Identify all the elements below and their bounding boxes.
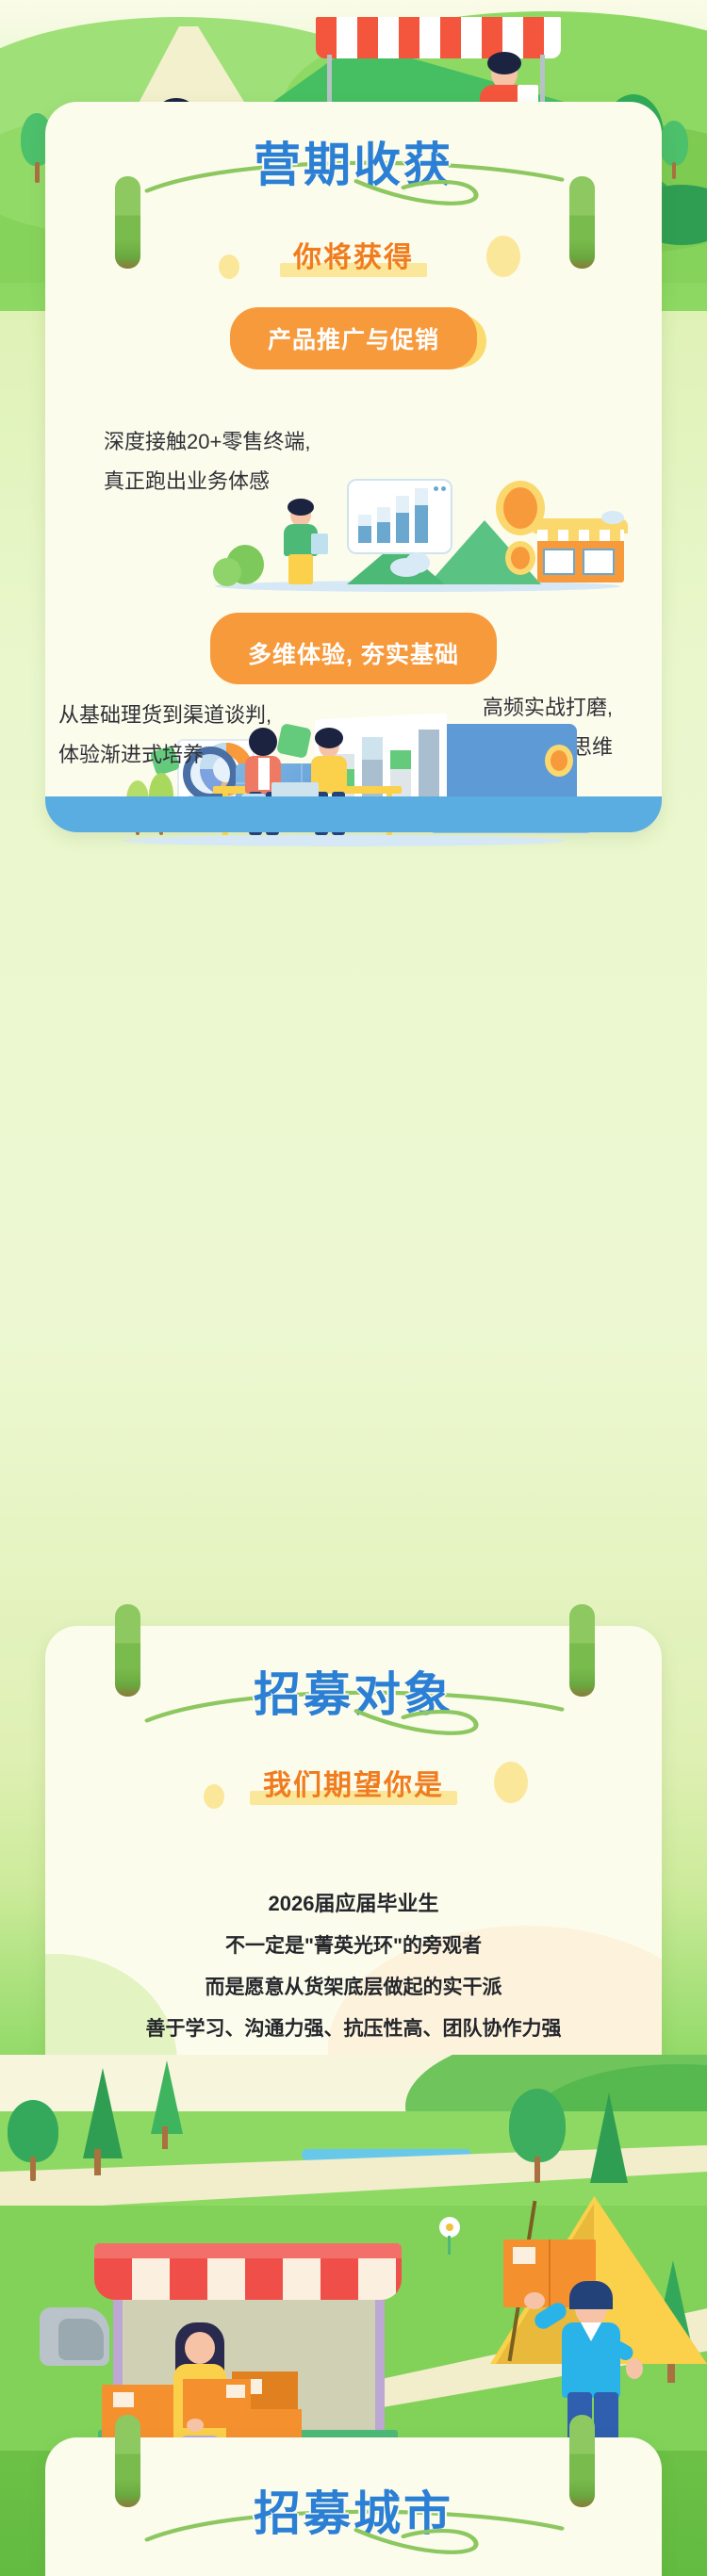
target-line-2: 不一定是"菁英光环"的旁观者 [45,1926,662,1967]
target-line-3: 而是愿意从货架底层做起的实干派 [45,1967,662,2009]
card2-clip-left [115,1604,140,1685]
harvest-subtitle: 你将获得 [286,234,421,275]
harvest-block1-pill[interactable]: 产品推广与促销 [230,307,477,369]
subtitle-underline [250,1791,457,1805]
retail-store-chart-illustration [206,471,649,594]
target-line-1: 2026届应届毕业生 [45,1882,662,1926]
harvest-block3-pill[interactable]: 多维体验, 夯实基础 [210,622,497,684]
harvest-block3-pill-wrap: 多维体验, 夯实基础 [45,622,662,681]
card3-clip-left [115,2415,140,2496]
poster-page: 营期收获 你将获得 产品推广与促销 深度接触20+零售终端, 真正跑出业务体感 [0,0,707,2576]
card1-clip-left [115,176,140,257]
decor-dot-large [486,236,520,277]
card3-clip-right [569,2415,595,2496]
target-line-4: 善于学习、沟通力强、抗压性高、团队协作力强 [45,2009,662,2050]
card-target: 招募对象 我们期望你是 2026届应届毕业生 不一定是"菁英光环"的旁观者 而是… [45,1626,662,2086]
decor-dot-large [494,1762,528,1803]
subtitle-underline [280,263,427,277]
card2-clip-right [569,1604,595,1685]
card1-clip-right [569,176,595,257]
card-harvest-blue-bar [45,796,662,832]
decor-dot-small [204,1784,224,1809]
harvest-block1-pill-wrap: 产品推广与促销 [45,307,662,366]
target-subtitle: 我们期望你是 [255,1762,452,1803]
harvest-block1-line1: 深度接触20+零售终端, [104,422,462,462]
decor-dot-small [219,254,239,279]
mid-illustration [0,2055,707,2451]
target-requirements-list: 2026届应届毕业生 不一定是"菁英光环"的旁观者 而是愿意从货架底层做起的实干… [45,1882,662,2050]
target-subtitle-wrap: 我们期望你是 [45,1762,662,1807]
